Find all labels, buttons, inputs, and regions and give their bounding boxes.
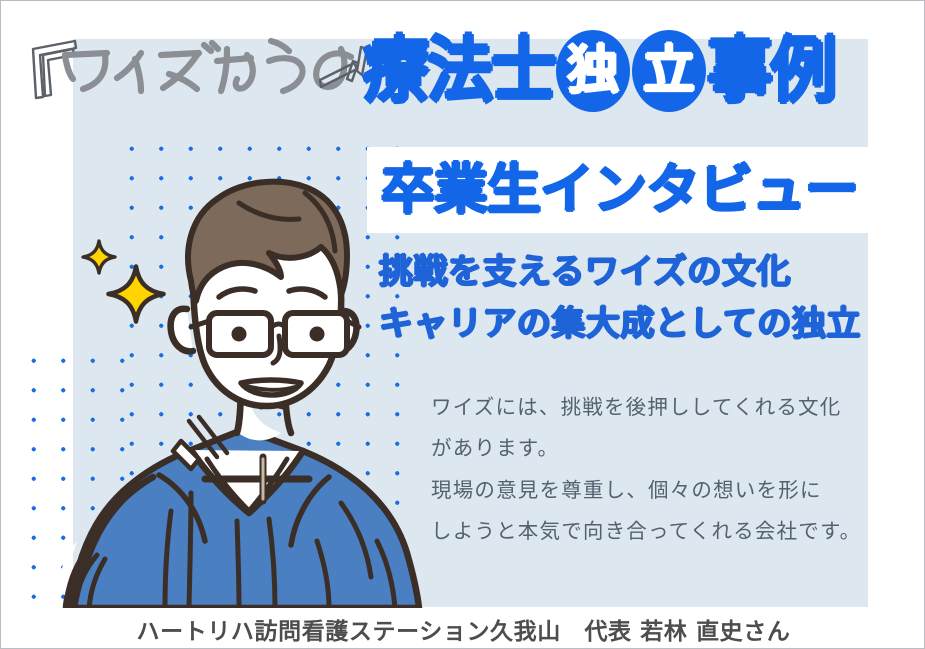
poster-canvas: 療 法 士 独 立 事 例 卒業生インタビュー 挑戦を支えるワイズの文化 キャリ… [0,0,925,649]
body-copy-line-3: 現場の意見を尊重し、個々の想いを形に [431,470,871,511]
body-copy-line-2: があります。 [431,428,871,469]
main-title-char-2: 法 [427,35,491,106]
main-title: 療 法 士 独 立 事 例 [363,25,835,117]
hand-written-bracket-title [21,27,371,107]
main-title-char-6: 事 [707,35,771,106]
body-copy-line-1: ワイズには、挑戦を後押ししてくれる文化 [431,387,871,428]
caption: ハートリハ訪問看護ステーション久我山 代表 若林 直史さん [1,612,925,646]
headline: 挑戦を支えるワイズの文化 キャリアの集大成としての独立 [379,247,861,350]
main-title-char-1: 療 [363,35,427,106]
subtitle: 卒業生インタビュー [381,156,858,224]
main-title-circled-char-doku: 独 [556,30,630,112]
headline-line-1: 挑戦を支えるワイズの文化 [379,247,861,299]
main-title-char-7: 例 [771,35,835,106]
headline-line-2: キャリアの集大成としての独立 [379,299,861,351]
main-title-circled-char-ritsu: 立 [632,30,706,112]
main-title-char-3: 士 [491,35,555,106]
body-copy: ワイズには、挑戦を後押ししてくれる文化 があります。 現場の意見を尊重し、個々の… [431,387,871,553]
body-copy-line-4: しようと本気で向き合ってくれる会社です。 [431,511,871,552]
